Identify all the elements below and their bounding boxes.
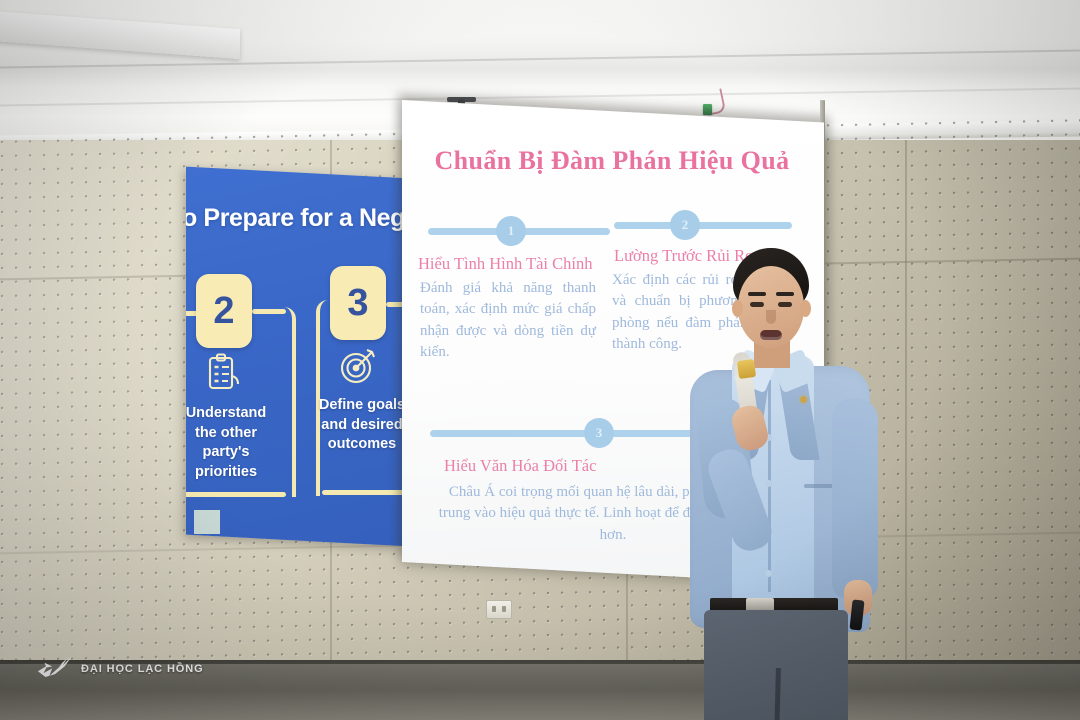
nose [766, 310, 776, 324]
slide-swatch [194, 510, 220, 534]
item-body-1: Đánh giá khả năng thanh toán, xác định m… [420, 278, 596, 363]
presenter [676, 248, 896, 720]
ear-right [800, 300, 811, 317]
connector-elbow [282, 307, 296, 497]
connector-rail [186, 492, 286, 497]
step-badge-3: 3 [584, 418, 614, 448]
eyebrow-left [748, 292, 766, 296]
item-heading-1: Hiểu Tình Hình Tài Chính [418, 254, 592, 274]
step-number-card-2: 2 [196, 274, 252, 348]
wall-outlet [486, 600, 512, 619]
step-badge-1: 1 [496, 216, 526, 246]
clipboard-checklist-icon [202, 352, 246, 396]
ceiling-tile [0, 11, 240, 59]
eyebrow-right [776, 292, 794, 296]
mouth [760, 330, 782, 340]
slide-title: Chuẩn Bị Đàm Phán Hiệu Quả [432, 146, 792, 176]
step-caption-3: Define goals and desired outcomes [310, 396, 402, 455]
step-badge-2: 2 [670, 210, 700, 240]
step-number-card-3: 3 [330, 266, 386, 340]
previous-slide-title: o Prepare for a Neg [186, 204, 402, 233]
connector-rail [322, 490, 402, 495]
timeline-bar [614, 222, 792, 229]
target-dart-icon [336, 344, 380, 388]
shirt-button [765, 570, 772, 577]
item-heading-3: Hiểu Văn Hóa Đối Tác [444, 456, 596, 476]
arm-right [832, 398, 878, 598]
watermark-logo: ĐẠI HỌC LẠC HỒNG [36, 654, 204, 684]
ear-left [732, 300, 743, 317]
bird-logo-icon [36, 654, 74, 684]
previous-slide: o Prepare for a Neg 2 3 [186, 167, 402, 546]
lapel-pin-icon [800, 396, 807, 403]
shirt-button [765, 480, 772, 487]
microphone-band [737, 359, 756, 379]
step-caption-2: Understand the other party's priorities [186, 404, 278, 482]
connector-rail [252, 309, 286, 314]
watermark-text: ĐẠI HỌC LẠC HỒNG [81, 663, 204, 675]
eye-right [778, 302, 792, 307]
photo-scene: o Prepare for a Neg 2 3 [0, 0, 1080, 720]
eye-left [750, 302, 764, 307]
